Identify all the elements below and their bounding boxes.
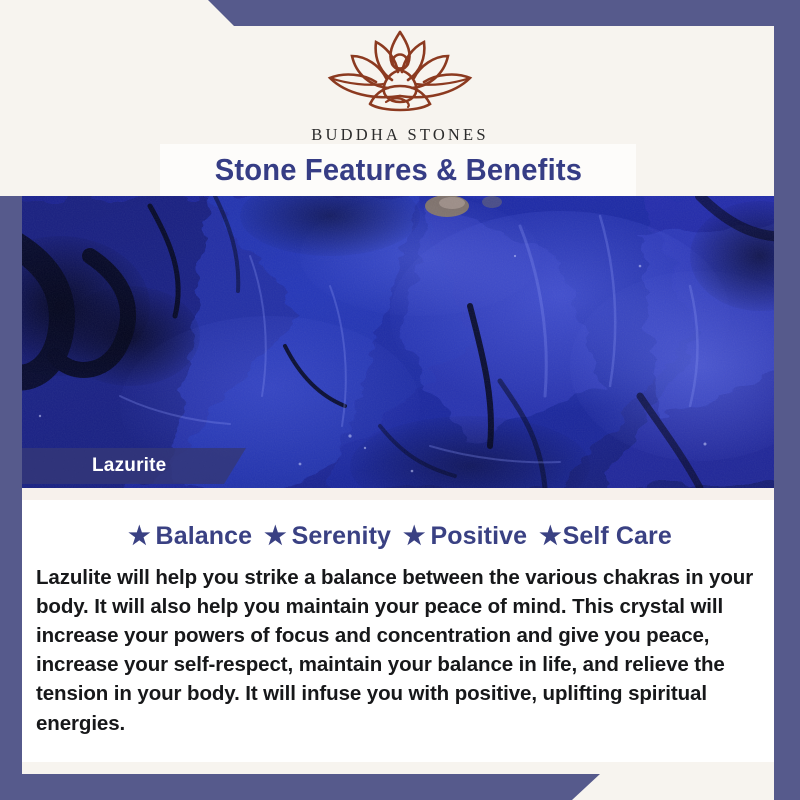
star-icon: ★ <box>128 524 150 549</box>
title-banner: Stone Features & Benefits <box>160 144 636 196</box>
stone-name-tag: Lazurite <box>22 448 246 484</box>
benefit-label: Serenity <box>292 522 391 551</box>
frame-right-bar <box>774 0 800 800</box>
star-icon: ★ <box>539 524 561 549</box>
benefit-item-positive: ★ Positive <box>403 522 527 551</box>
brand-logo: BUDDHA STONES <box>0 22 800 145</box>
content-card: ★ Balance ★ Serenity ★ Positive ★ Self C… <box>22 488 778 774</box>
stone-photo <box>0 196 800 488</box>
card-bottom-strip <box>22 762 778 774</box>
benefit-label: Balance <box>156 522 253 551</box>
benefits-row: ★ Balance ★ Serenity ★ Positive ★ Self C… <box>22 522 778 551</box>
star-icon: ★ <box>403 524 425 549</box>
benefit-label: Positive <box>430 522 527 551</box>
benefit-item-self-care: ★ Self Care <box>539 522 672 551</box>
stone-feature-poster: BUDDHA STONES Stone Features & Benefits <box>0 0 800 800</box>
benefit-item-balance: ★ Balance <box>128 522 252 551</box>
lotus-meditation-icon <box>0 22 800 123</box>
frame-bottom-bar <box>0 774 800 800</box>
card-top-strip <box>22 488 778 500</box>
star-icon: ★ <box>264 524 286 549</box>
brand-name: BUDDHA STONES <box>0 125 800 145</box>
stone-description: Lazulite will help you strike a balance … <box>36 563 764 738</box>
benefit-label: Self Care <box>563 522 672 551</box>
stone-name-label: Lazurite <box>92 455 166 477</box>
benefit-item-serenity: ★ Serenity <box>264 522 391 551</box>
page-title: Stone Features & Benefits <box>214 152 581 188</box>
frame-left-bar <box>0 196 22 800</box>
